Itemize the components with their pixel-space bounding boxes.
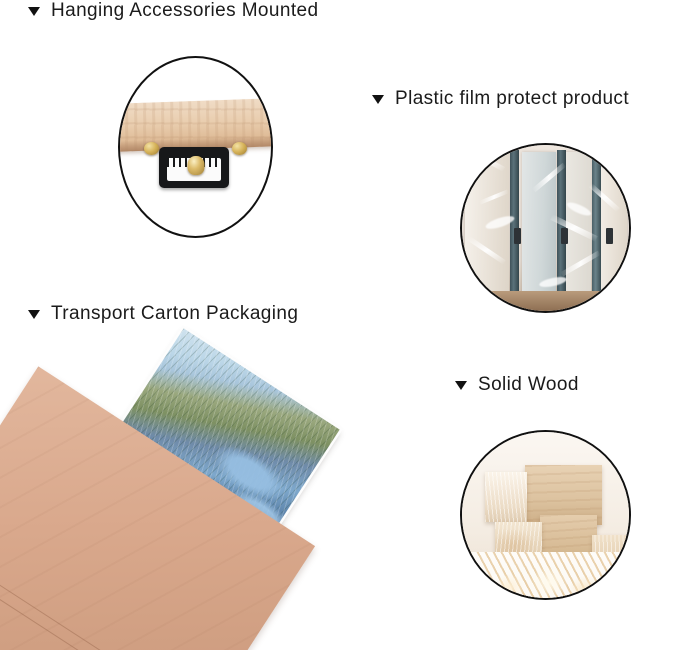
label-text: Plastic film protect product	[395, 88, 629, 110]
triangle-down-icon	[28, 7, 40, 16]
label-hanging-accessories: Hanging Accessories Mounted	[28, 0, 318, 22]
label-solid-wood: Solid Wood	[455, 374, 579, 396]
brass-screw-left-icon	[144, 142, 159, 155]
hanger-tab-2	[561, 228, 568, 244]
label-text: Hanging Accessories Mounted	[51, 0, 318, 22]
triangle-down-icon	[372, 95, 384, 104]
hanger-tab-3	[606, 228, 613, 244]
label-plastic-film: Plastic film protect product	[372, 88, 629, 110]
product-feature-infographic: Hanging Accessories Mounted Plastic film…	[0, 0, 679, 650]
wood-beam-top-end-grain	[485, 472, 527, 522]
triangle-down-icon	[28, 310, 40, 319]
brass-screw-right-icon	[232, 142, 247, 155]
triangle-down-icon	[455, 381, 467, 390]
solid-wood-photo	[462, 432, 629, 598]
floor-strip	[462, 291, 629, 311]
label-text: Solid Wood	[478, 374, 579, 396]
label-text: Transport Carton Packaging	[51, 303, 298, 325]
hanger-tab-1	[514, 228, 521, 244]
photo-hanging-accessories	[118, 56, 273, 238]
brass-screw-center-icon	[187, 156, 204, 175]
photo-transport-carton	[0, 358, 340, 650]
wood-shavings	[460, 552, 631, 600]
hanging-hardware-photo	[120, 58, 271, 236]
frame-wood-edge	[118, 97, 273, 152]
frame-edge-3	[592, 150, 601, 306]
photo-solid-wood	[460, 430, 631, 600]
label-transport-carton: Transport Carton Packaging	[28, 303, 298, 325]
carton-crease	[0, 548, 193, 650]
plastic-film-photo	[462, 145, 629, 311]
photo-plastic-film	[460, 143, 631, 313]
